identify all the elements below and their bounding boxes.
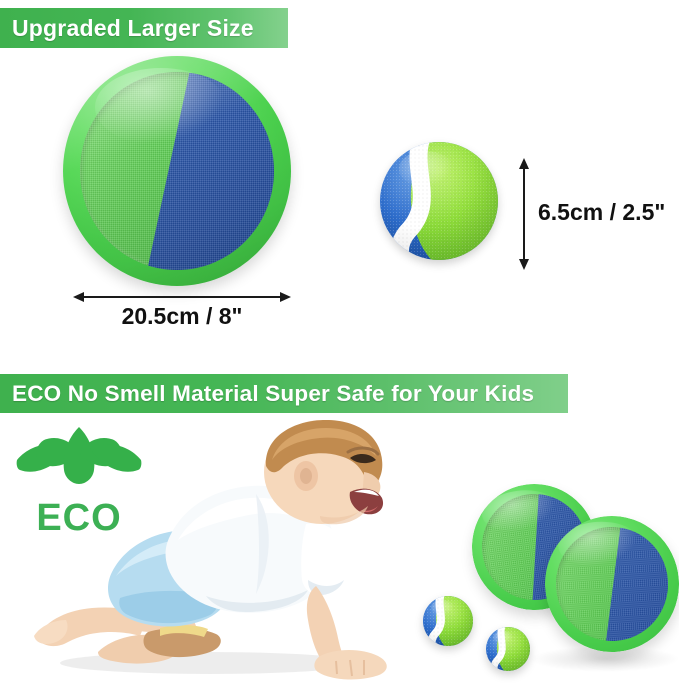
ball-shading [380,142,498,260]
paddle-highlight [95,68,227,146]
arrow-right-icon [280,292,291,302]
ball-shading [423,596,473,646]
dimension-line [523,169,525,259]
arrow-up-icon [519,158,529,169]
ball-height-label: 6.5cm / 2.5" [538,199,665,226]
banner-upgraded-larger-size: Upgraded Larger Size [0,8,288,48]
banner-eco-no-smell-material: ECO No Smell Material Super Safe for You… [0,374,568,413]
ball-small-1 [423,596,473,646]
arrow-left-icon [73,292,84,302]
eco-leaves-icon [14,424,144,502]
banner-top-text: Upgraded Larger Size [12,15,254,42]
ball-small-2 [486,627,530,671]
dimension-line [84,296,280,298]
ball-large-image [380,142,498,260]
ball-height-dimension-line [519,158,529,270]
eco-logo-text: ECO [14,500,144,536]
banner-eco-text: ECO No Smell Material Super Safe for You… [12,381,534,407]
paddle-large-image [63,56,291,286]
paddle-small-front [540,511,679,656]
eco-logo: ECO [14,424,144,536]
ball-shading [486,627,530,671]
paddle-width-dimension-line [73,292,291,302]
arrow-down-icon [519,259,529,270]
product-group-bottom-right [410,478,679,683]
paddle-width-label: 20.5cm / 8" [60,303,304,330]
